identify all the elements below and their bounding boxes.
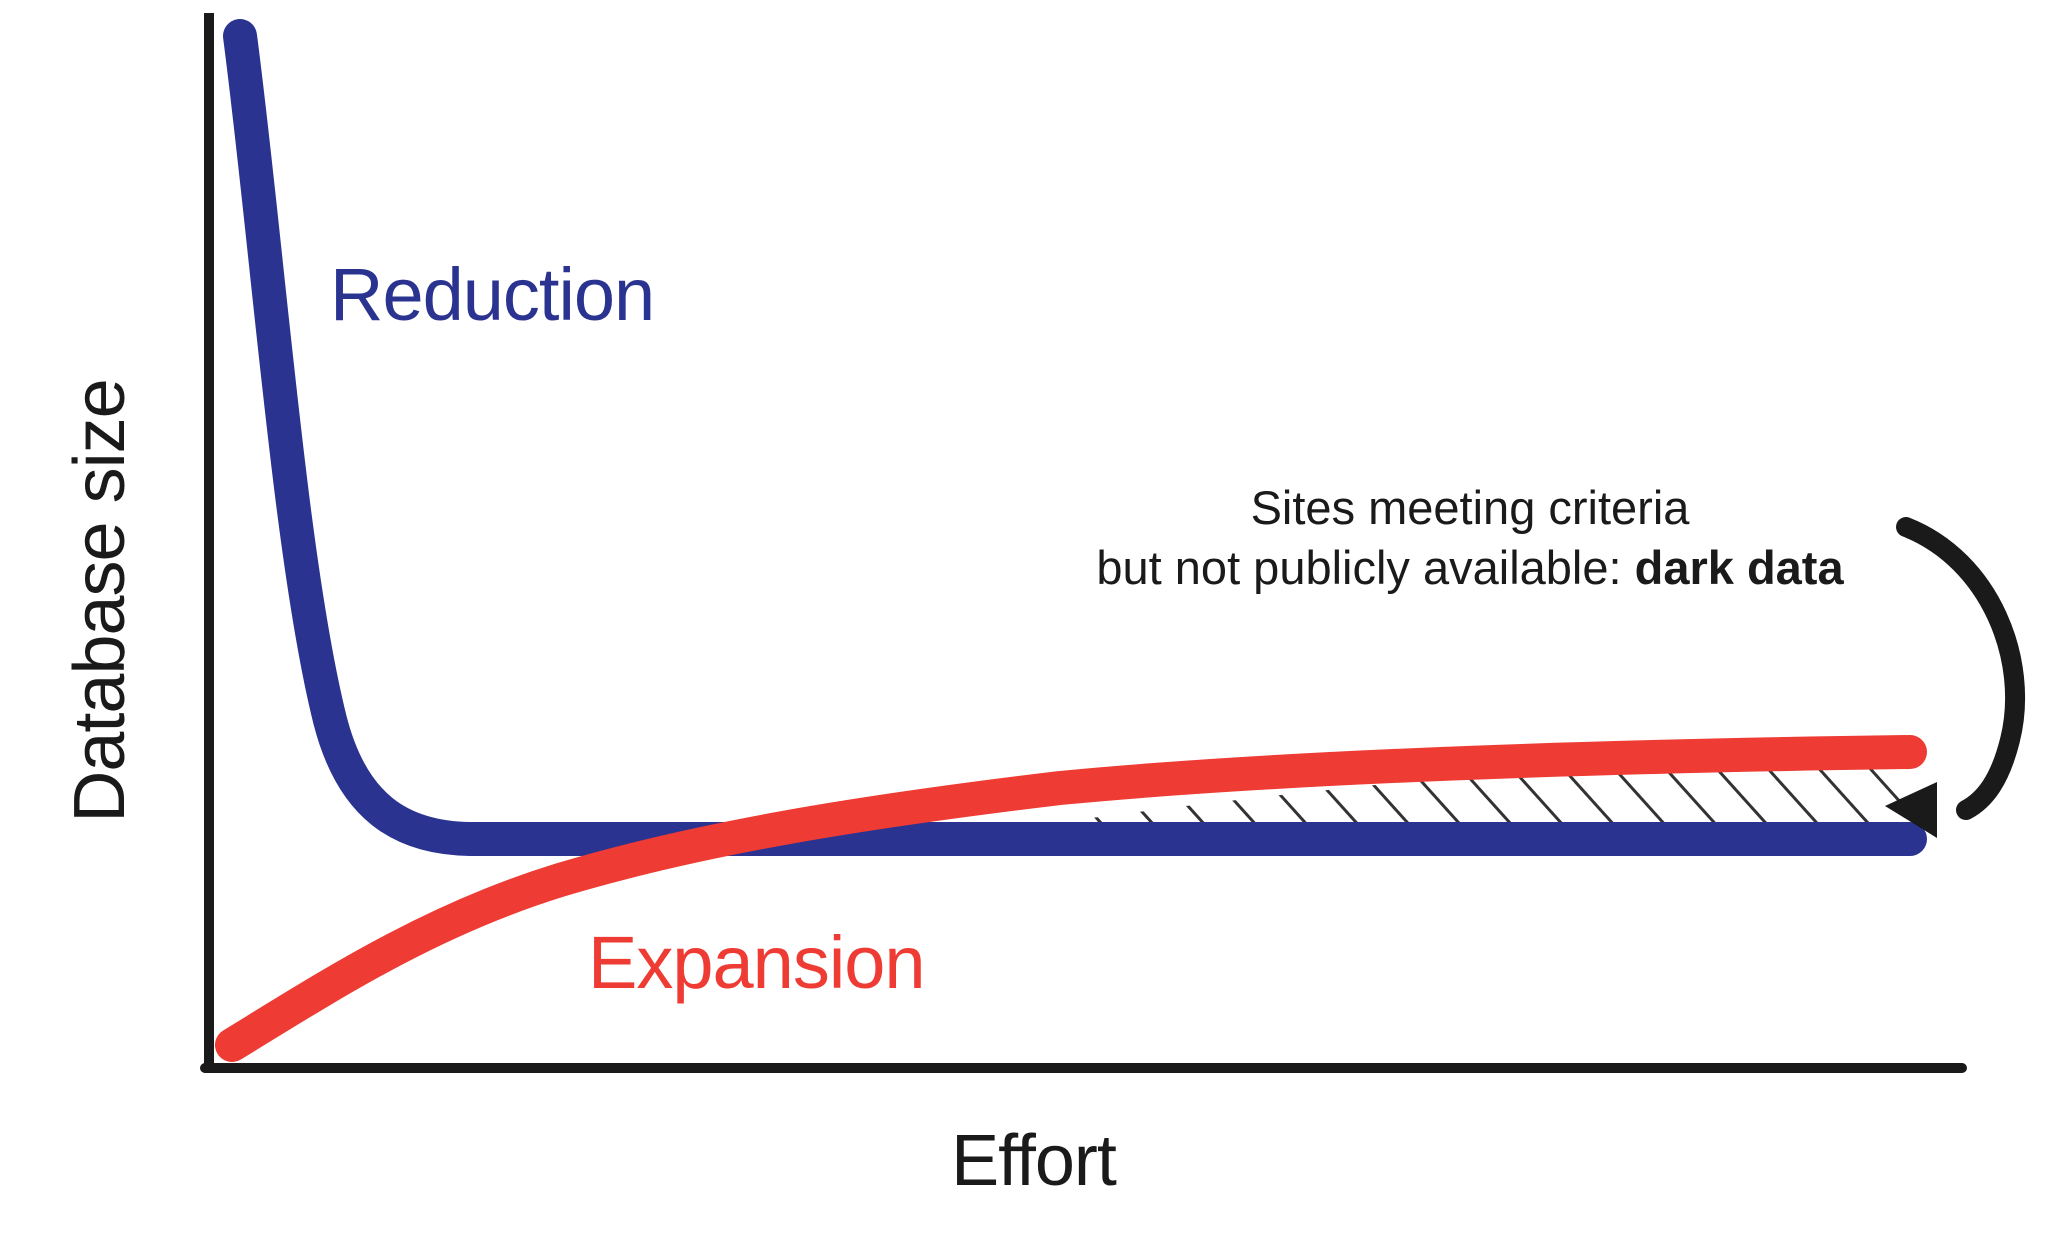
- annotation-line-2: but not publicly available: dark data: [1020, 538, 1920, 598]
- annotation-line-2-prefix: but not publicly available:: [1096, 541, 1634, 594]
- series-line-reduction: [240, 36, 1910, 839]
- annotation-emphasis-dark-data: dark data: [1635, 541, 1844, 594]
- annotation-line-1: Sites meeting criteria: [1020, 478, 1920, 538]
- y-axis-title: Database size: [59, 301, 141, 901]
- x-axis-title: Effort: [0, 1120, 2067, 1202]
- dark-data-annotation: Sites meeting criteria but not publicly …: [1020, 478, 1920, 598]
- series-label-expansion: Expansion: [588, 920, 925, 1005]
- series-label-reduction: Reduction: [330, 252, 654, 337]
- chart-canvas: [0, 0, 2067, 1237]
- chart-figure: Database size Effort Reduction Expansion…: [0, 0, 2067, 1237]
